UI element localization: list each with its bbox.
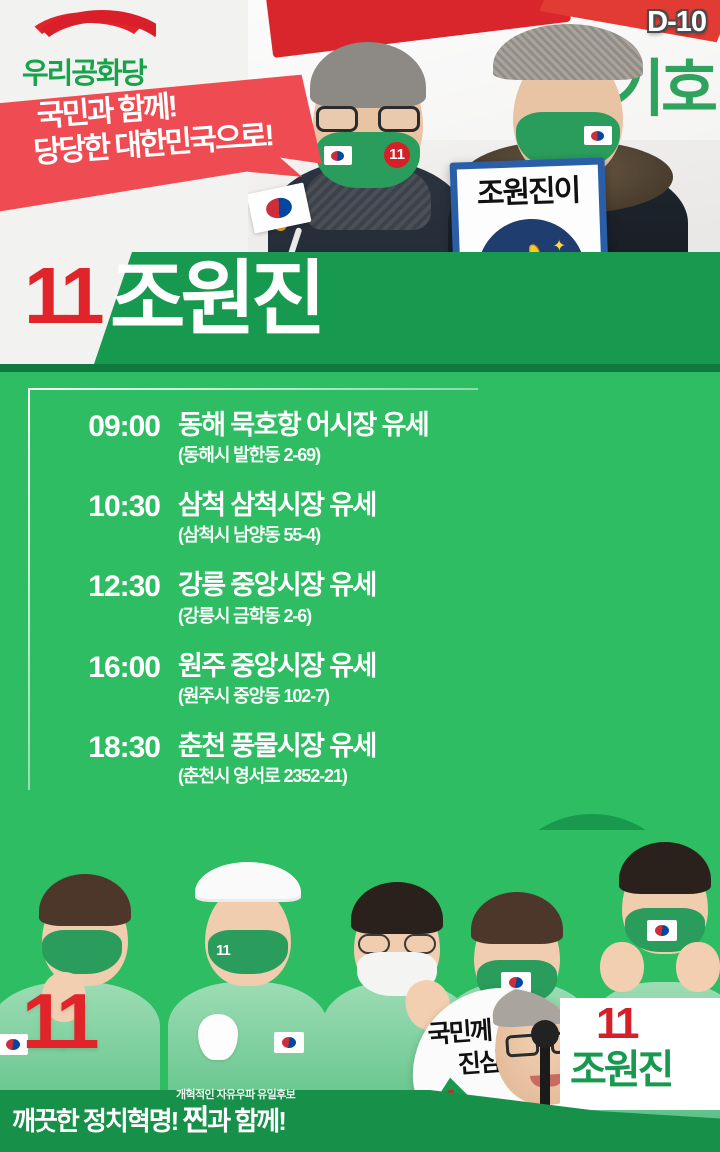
schedule-title: 원주 중앙시장 유세 [178, 651, 376, 681]
hair [310, 42, 426, 108]
dday-badge: D-10 [647, 6, 706, 39]
schedule-address: (동해시 발한동 2-69) [178, 441, 428, 467]
footer-slogan-zzin: 찐 [183, 1097, 208, 1139]
schedule-address: (강릉시 금학동 2-6) [178, 602, 376, 628]
schedule-section: 2.27(일) 강원 09:00 동해 묵호항 어시장 유세 (동해시 발한동 … [0, 364, 720, 844]
schedule-title: 강릉 중앙시장 유세 [178, 570, 376, 600]
face-mask: 11 [316, 132, 420, 188]
schedule-title: 삼척 삼척시장 유세 [178, 490, 376, 520]
schedule-title: 동해 묵호항 어시장 유세 [178, 410, 428, 440]
hair [39, 874, 131, 926]
header-section: 기호 11 [0, 0, 720, 370]
section-divider [0, 364, 720, 372]
schedule-address: (춘천시 영서로 2352-21) [178, 762, 376, 788]
footer-slogan: 깨끗한 정치혁명! 찐과 함께! [12, 1097, 285, 1139]
chip-number: 11 [570, 1002, 720, 1046]
schedule-item: 12:30 강릉 중앙시장 유세 (강릉시 금학동 2-6) [42, 570, 472, 627]
hair [619, 842, 711, 894]
party-name: 우리공화당 [14, 50, 194, 92]
schedule-time: 16:00 [42, 651, 160, 684]
glasses-icon [316, 106, 420, 132]
schedule-list: 09:00 동해 묵호항 어시장 유세 (동해시 발한동 2-69) 10:30… [42, 410, 472, 811]
korean-flag-icon [274, 1032, 304, 1053]
schedule-body: 삼척 삼척시장 유세 (삼척시 남양동 55-4) [160, 490, 376, 547]
logo-arc-icon [20, 8, 156, 48]
cap [195, 862, 301, 902]
flat-cap [493, 24, 643, 80]
bottom-candidate-number: 11 [22, 982, 94, 1060]
hair [351, 882, 443, 934]
schedule-time: 09:00 [42, 410, 160, 443]
mask-number: 11 [216, 942, 230, 959]
korean-flag-icon [647, 920, 677, 941]
schedule-item: 18:30 춘천 풍물시장 유세 (춘천시 영서로 2352-21) [42, 731, 472, 788]
footer-slogan-part1: 깨끗한 정치혁명! [12, 1106, 183, 1136]
party-logo: 우리공화당 [14, 8, 194, 92]
candidate-name: 조원진 [110, 252, 321, 349]
hair [471, 892, 563, 944]
schedule-address: (삼척시 남양동 55-4) [178, 521, 376, 547]
chip-name: 조원진 [570, 1048, 720, 1092]
schedule-body: 동해 묵호항 어시장 유세 (동해시 발한동 2-69) [160, 410, 428, 467]
schedule-address: (원주시 중앙동 102-7) [178, 682, 376, 708]
korean-flag-icon [324, 146, 352, 165]
schedule-time: 12:30 [42, 570, 160, 603]
schedule-body: 원주 중앙시장 유세 (원주시 중앙동 102-7) [160, 651, 376, 708]
mask-number-badge: 11 [384, 142, 410, 168]
schedule-body: 춘천 풍물시장 유세 (춘천시 영서로 2352-21) [160, 731, 376, 788]
schedule-title: 춘천 풍물시장 유세 [178, 731, 376, 761]
schedule-item: 09:00 동해 묵호항 어시장 유세 (동해시 발한동 2-69) [42, 410, 472, 467]
korean-flag-icon [584, 126, 612, 145]
schedule-item: 10:30 삼척 삼척시장 유세 (삼척시 남양동 55-4) [42, 490, 472, 547]
face-mask [42, 930, 122, 974]
schedule-time: 10:30 [42, 490, 160, 523]
footer-slogan-part2: 과 함께! [207, 1106, 285, 1136]
microphone-icon [540, 1038, 550, 1110]
glasses-icon [358, 934, 436, 954]
face-mask: 11 [208, 930, 288, 974]
schedule-body: 강릉 중앙시장 유세 (강릉시 금학동 2-6) [160, 570, 376, 627]
bottom-name-chip: 11 조원진 [560, 998, 720, 1110]
schedule-time: 18:30 [42, 731, 160, 764]
glove [198, 1014, 238, 1060]
hand [676, 942, 720, 992]
hand [600, 942, 644, 992]
placard-top-text: 조원진이 [457, 165, 600, 222]
schedule-item: 16:00 원주 중앙시장 유세 (원주시 중앙동 102-7) [42, 651, 472, 708]
campaign-poster: 기호 11 [0, 0, 720, 1152]
candidate-number: 11 [24, 256, 101, 336]
